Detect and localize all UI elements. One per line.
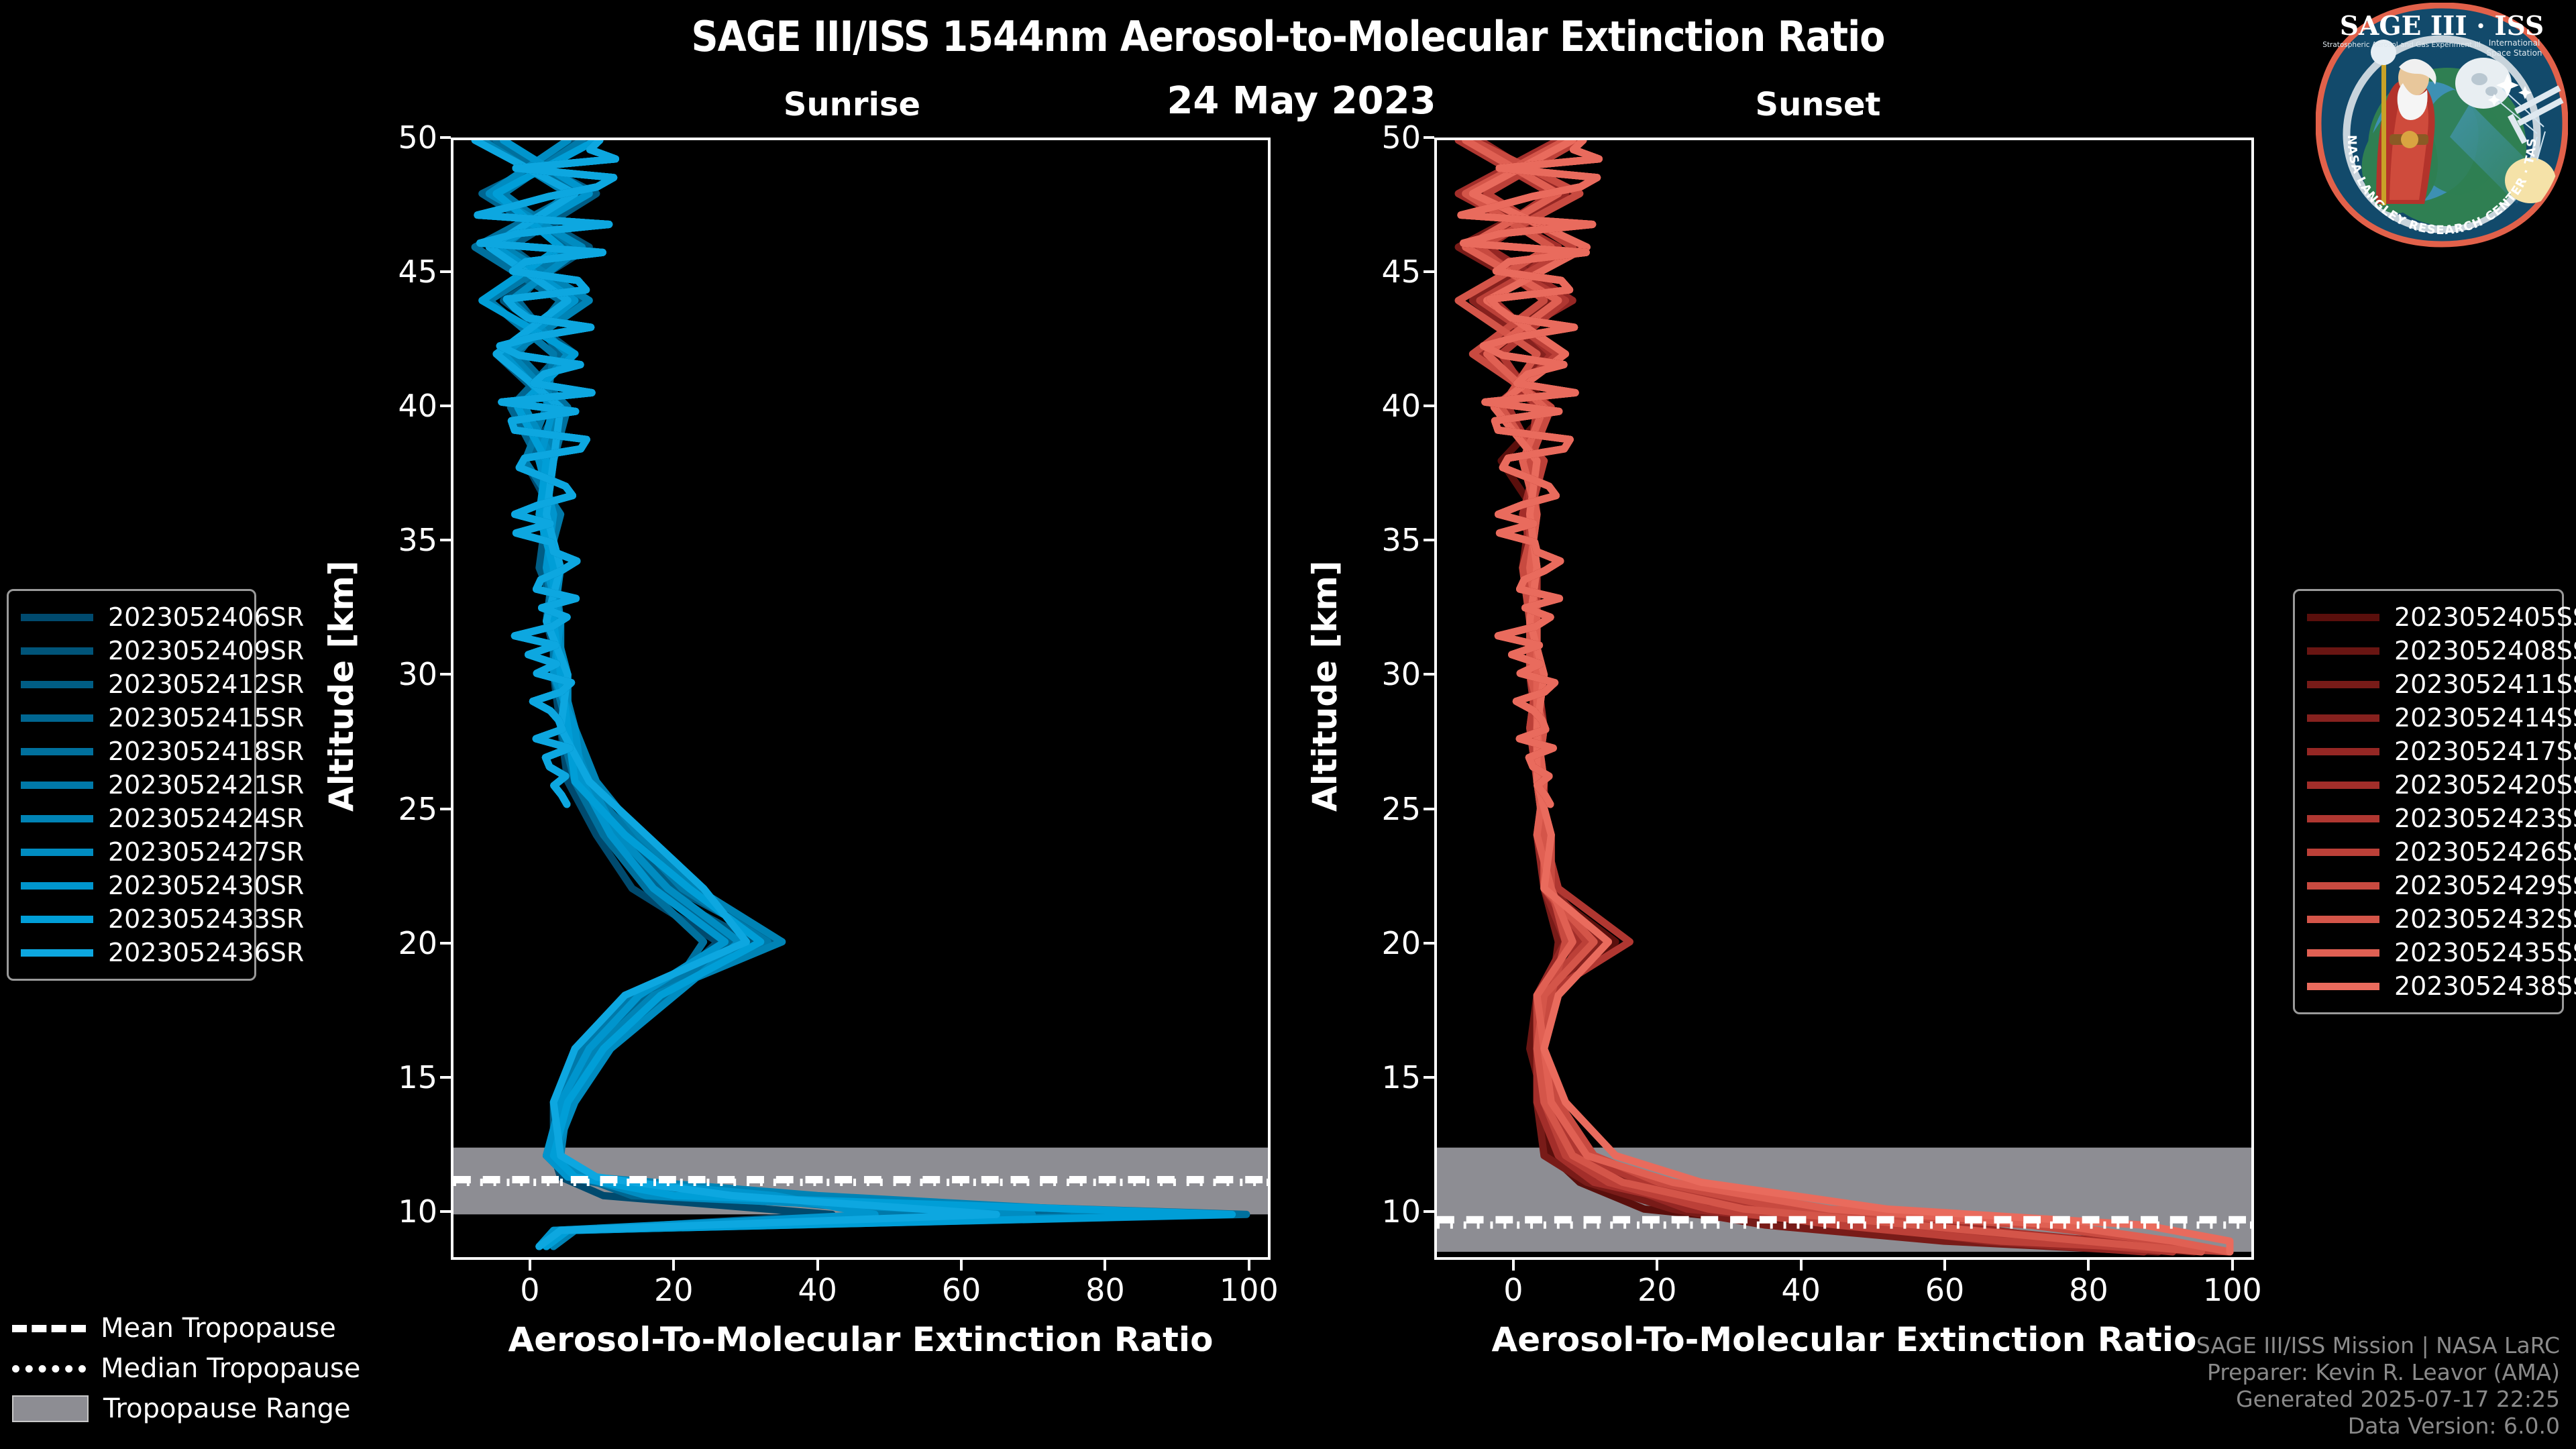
profile-line [1472, 140, 2230, 1252]
tropopause-legend: Mean TropopauseMedian TropopauseTropopau… [12, 1308, 428, 1429]
y-tick-label: 15 [1334, 1062, 1421, 1093]
legend-item-label: 2023052427SR [108, 837, 304, 867]
legend-item-label: 2023052421SR [108, 770, 304, 800]
tropopause-legend-label: Median Tropopause [101, 1353, 360, 1384]
legend-item[interactable]: 2023052432SS [2307, 902, 2550, 936]
y-tick-mark [440, 405, 451, 407]
legend-item[interactable]: 2023052409SR [21, 634, 242, 667]
legend-color-swatch [2307, 614, 2379, 621]
y-tick-mark [1424, 405, 1434, 407]
y-tick-label: 20 [350, 928, 437, 959]
legend-item-label: 2023052411SS [2394, 669, 2576, 699]
legend-color-swatch [2307, 714, 2379, 722]
x-tick-mark [1512, 1260, 1515, 1271]
profile-line [489, 140, 832, 1246]
legend-color-swatch [21, 681, 93, 688]
y-tick-mark [1424, 1210, 1434, 1213]
legend-item-label: 2023052417SS [2394, 737, 2576, 766]
y-tick-label: 50 [350, 122, 437, 153]
legend-color-swatch [2307, 983, 2379, 990]
y-tick-mark [1424, 942, 1434, 945]
sunset-curves [1437, 140, 2251, 1257]
legend-color-swatch [2307, 815, 2379, 822]
sunrise-y-axis-label: Altitude [km] [322, 560, 361, 812]
legend-item-label: 2023052429SS [2394, 871, 2576, 900]
legend-color-swatch [21, 849, 93, 856]
y-tick-mark [440, 136, 451, 139]
y-tick-mark [1424, 270, 1434, 273]
legend-item[interactable]: 2023052411SS [2307, 667, 2550, 701]
legend-item-label: 2023052433SR [108, 904, 304, 934]
y-tick-label: 25 [1334, 794, 1421, 824]
x-tick-mark [2231, 1260, 2234, 1271]
legend-item-label: 2023052430SR [108, 871, 304, 900]
legend-item[interactable]: 2023052405SS [2307, 600, 2550, 634]
legend-color-swatch [21, 647, 93, 655]
legend-color-swatch [2307, 782, 2379, 789]
y-tick-label: 30 [350, 659, 437, 690]
tropopause-legend-item: Median Tropopause [12, 1348, 428, 1389]
legend-item-label: 2023052412SR [108, 669, 304, 699]
legend-color-swatch [21, 916, 93, 923]
legend-item[interactable]: 2023052418SR [21, 735, 242, 768]
sunrise-plot-area [451, 138, 1271, 1260]
profile-line [1472, 140, 2230, 1252]
y-tick-label: 35 [1334, 525, 1421, 555]
x-tick-mark [1656, 1260, 1658, 1271]
x-tick-mark [2087, 1260, 2090, 1271]
legend-item[interactable]: 2023052430SR [21, 869, 242, 902]
x-tick-label: 40 [798, 1275, 837, 1305]
y-tick-label: 15 [350, 1062, 437, 1093]
y-tick-label: 10 [1334, 1196, 1421, 1227]
y-tick-mark [1424, 539, 1434, 541]
profile-line [1458, 140, 2202, 1252]
legend-item[interactable]: 2023052433SR [21, 902, 242, 936]
legend-item[interactable]: 2023052412SR [21, 667, 242, 701]
x-tick-label: 0 [520, 1275, 539, 1305]
sunrise-curves [453, 140, 1268, 1257]
x-tick-mark [960, 1260, 963, 1271]
legend-item[interactable]: 2023052408SS [2307, 634, 2550, 667]
patch-subtitle-left: Stratospheric Aerosol and Gas Experiment… [2322, 41, 2481, 49]
y-tick-label: 35 [350, 525, 437, 555]
legend-color-swatch [21, 714, 93, 722]
legend-item-label: 2023052418SR [108, 737, 304, 766]
sunset-plot-area [1434, 138, 2254, 1260]
legend-item-label: 2023052432SS [2394, 904, 2576, 934]
y-tick-mark [1424, 673, 1434, 676]
x-tick-label: 100 [1220, 1275, 1279, 1305]
credits-block: SAGE III/ISS Mission | NASA LaRCPreparer… [2196, 1332, 2560, 1440]
y-tick-label: 25 [350, 794, 437, 824]
legend-item[interactable]: 2023052436SR [21, 936, 242, 969]
legend-color-swatch [2307, 849, 2379, 856]
legend-item-label: 2023052438SS [2394, 971, 2576, 1001]
legend-item[interactable]: 2023052427SR [21, 835, 242, 869]
profile-line [1466, 140, 2230, 1252]
legend-item[interactable]: 2023052417SS [2307, 735, 2550, 768]
x-tick-label: 0 [1503, 1275, 1523, 1305]
legend-color-swatch [21, 748, 93, 755]
legend-item[interactable]: 2023052426SS [2307, 835, 2550, 869]
legend-color-swatch [2307, 748, 2379, 755]
legend-item[interactable]: 2023052414SS [2307, 701, 2550, 735]
legend-color-swatch [2307, 681, 2379, 688]
legend-item[interactable]: 2023052415SR [21, 701, 242, 735]
legend-item[interactable]: 2023052423SS [2307, 802, 2550, 835]
tropopause-legend-swatch-dotted [12, 1365, 86, 1373]
profile-line [1472, 140, 2230, 1252]
profile-line [1472, 140, 2194, 1252]
credits-line: Data Version: 6.0.0 [2196, 1413, 2560, 1440]
y-tick-mark [440, 808, 451, 810]
legend-color-swatch [2307, 949, 2379, 957]
legend-item-label: 2023052414SS [2394, 703, 2576, 733]
y-tick-mark [440, 1076, 451, 1079]
profile-line [1480, 140, 2230, 1252]
tropopause-legend-item: Mean Tropopause [12, 1308, 428, 1348]
legend-color-swatch [2307, 647, 2379, 655]
profile-line [496, 140, 1211, 1246]
x-tick-label: 80 [2069, 1275, 2108, 1305]
legend-color-swatch [21, 949, 93, 957]
legend-item-label: 2023052426SS [2394, 837, 2576, 867]
legend-item-label: 2023052408SS [2394, 636, 2576, 665]
legend-item[interactable]: 2023052406SR [21, 600, 242, 634]
x-tick-label: 20 [654, 1275, 694, 1305]
x-tick-mark [1104, 1260, 1106, 1271]
y-tick-mark [440, 673, 451, 676]
x-tick-mark [816, 1260, 819, 1271]
x-tick-label: 40 [1781, 1275, 1821, 1305]
legend-item-label: 2023052423SS [2394, 804, 2576, 833]
date-subtitle: 24 May 2023 [1100, 79, 1503, 123]
y-tick-label: 45 [350, 256, 437, 287]
tropopause-legend-item: Tropopause Range [12, 1389, 428, 1429]
y-tick-label: 45 [1334, 256, 1421, 287]
legend-color-swatch [21, 614, 93, 621]
legend-item-label: 2023052435SS [2394, 938, 2576, 967]
legend-color-swatch [21, 815, 93, 822]
x-tick-mark [1943, 1260, 1946, 1271]
credits-line: SAGE III/ISS Mission | NASA LaRC [2196, 1332, 2560, 1359]
profile-line [1480, 140, 2144, 1252]
credits-line: Preparer: Kevin R. Leavor (AMA) [2196, 1359, 2560, 1386]
sunrise-x-axis-label: Aerosol-To-Molecular Extinction Ratio [451, 1320, 1271, 1359]
legend-color-swatch [2307, 916, 2379, 923]
y-tick-mark [440, 539, 451, 541]
tropopause-legend-swatch-dashed [12, 1325, 86, 1332]
tropopause-legend-label: Mean Tropopause [101, 1313, 336, 1344]
legend-item-label: 2023052415SR [108, 703, 304, 733]
legend-color-swatch [21, 782, 93, 789]
x-tick-label: 100 [2203, 1275, 2262, 1305]
x-tick-mark [672, 1260, 675, 1271]
sunset-x-axis-label: Aerosol-To-Molecular Extinction Ratio [1434, 1320, 2254, 1359]
y-tick-label: 50 [1334, 122, 1421, 153]
legend-item[interactable]: 2023052435SS [2307, 936, 2550, 969]
profile-line [1458, 140, 2230, 1252]
profile-line [1472, 140, 2230, 1252]
legend-color-swatch [21, 882, 93, 890]
x-tick-label: 80 [1085, 1275, 1125, 1305]
patch-subtitle-right-2: Space Station [2486, 48, 2542, 58]
x-tick-label: 60 [1925, 1275, 1965, 1305]
legend-item[interactable]: 2023052438SS [2307, 969, 2550, 1003]
x-tick-mark [1248, 1260, 1250, 1271]
y-tick-label: 10 [350, 1196, 437, 1227]
legend-item-label: 2023052405SS [2394, 602, 2576, 632]
x-tick-mark [1800, 1260, 1803, 1271]
legend-item-label: 2023052406SR [108, 602, 304, 632]
x-tick-label: 20 [1638, 1275, 1677, 1305]
y-tick-mark [440, 942, 451, 945]
sunrise-legend[interactable]: 2023052406SR2023052409SR2023052412SR2023… [7, 589, 256, 981]
sunrise-panel-title: Sunrise [644, 86, 1060, 123]
y-tick-mark [1424, 808, 1434, 810]
legend-item[interactable]: 2023052424SR [21, 802, 242, 835]
sunset-y-axis-label: Altitude [km] [1305, 560, 1344, 812]
patch-subtitle-right-1: International [2489, 38, 2540, 48]
y-tick-mark [1424, 1076, 1434, 1079]
tropopause-legend-label: Tropopause Range [103, 1393, 351, 1424]
legend-item-label: 2023052409SR [108, 636, 304, 665]
y-tick-mark [440, 270, 451, 273]
legend-item[interactable]: 2023052421SR [21, 768, 242, 802]
legend-item-label: 2023052436SR [108, 938, 304, 967]
legend-item[interactable]: 2023052420SS [2307, 768, 2550, 802]
legend-color-swatch [2307, 882, 2379, 890]
y-tick-label: 30 [1334, 659, 1421, 690]
profile-line [482, 140, 1232, 1246]
credits-line: Generated 2025-07-17 22:25 [2196, 1386, 2560, 1413]
x-tick-label: 60 [942, 1275, 981, 1305]
x-tick-mark [529, 1260, 531, 1271]
y-tick-label: 40 [350, 390, 437, 421]
patch-title: SAGE III · ISS [2340, 11, 2544, 42]
tropopause-legend-swatch-band [12, 1395, 89, 1422]
y-tick-mark [1424, 136, 1434, 139]
legend-item-label: 2023052420SS [2394, 770, 2576, 800]
sunset-panel-title: Sunset [1610, 86, 2026, 123]
page-title: SAGE III/ISS 1544nm Aerosol-to-Molecular… [0, 12, 2576, 61]
legend-item-label: 2023052424SR [108, 804, 304, 833]
legend-item[interactable]: 2023052429SS [2307, 869, 2550, 902]
y-tick-mark [440, 1210, 451, 1213]
sunset-legend[interactable]: 2023052405SS2023052408SS2023052411SS2023… [2293, 589, 2564, 1014]
y-tick-label: 20 [1334, 928, 1421, 959]
y-tick-label: 40 [1334, 390, 1421, 421]
sage-mission-patch-logo: SAGE III · ISS Stratospheric Aerosol and… [2316, 3, 2568, 248]
